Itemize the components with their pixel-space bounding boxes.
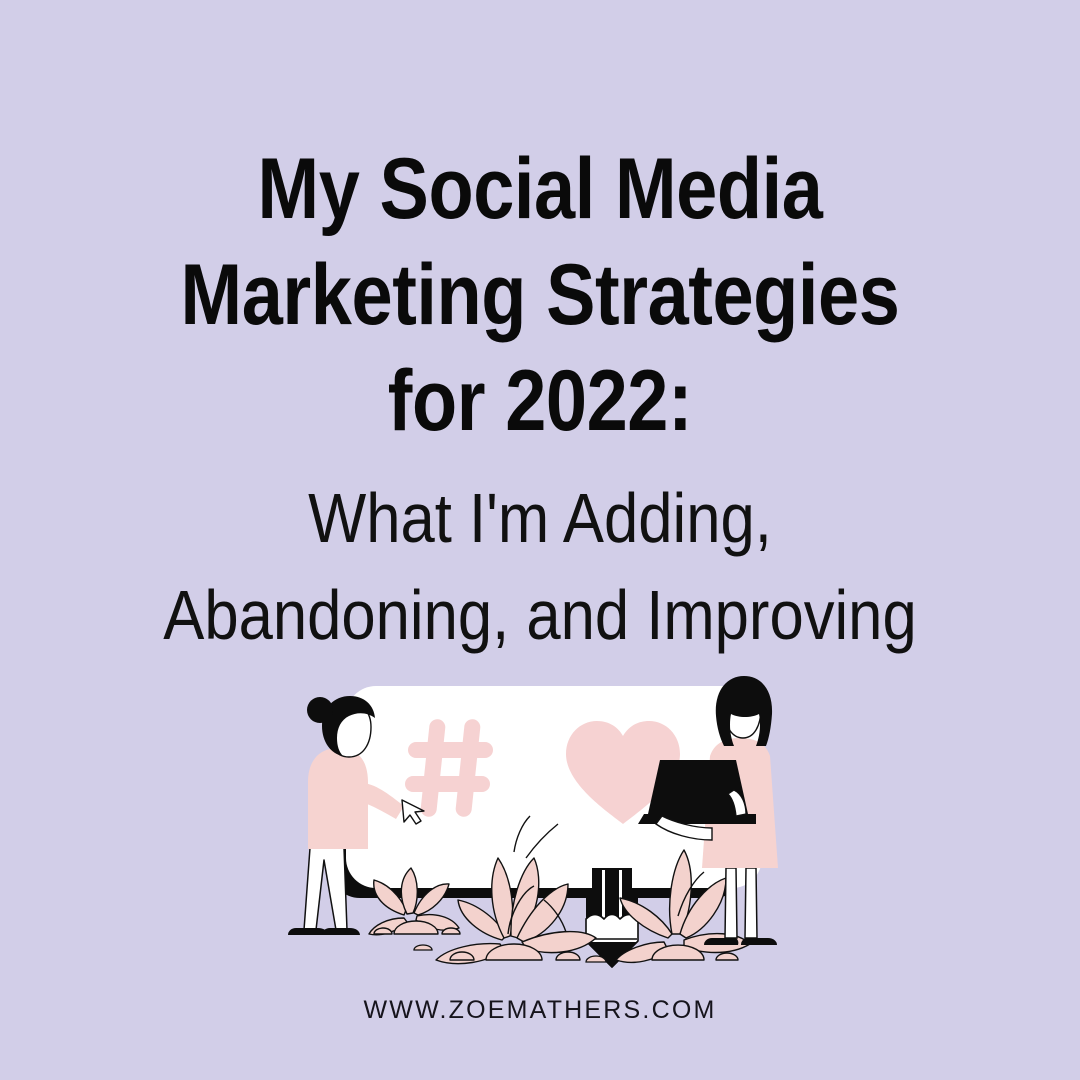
- poster-canvas: My Social Media Marketing Strategies for…: [0, 0, 1080, 1080]
- headline-block: My Social Media Marketing Strategies for…: [0, 136, 1080, 454]
- laptop-screen: [648, 760, 748, 814]
- subheadline-line-2: Abandoning, and Improving: [65, 567, 1015, 664]
- headline-line-3: for 2022:: [76, 348, 1005, 454]
- subheadline-line-1: What I'm Adding,: [65, 470, 1015, 567]
- shoe-left: [704, 938, 738, 945]
- shoe-left: [288, 928, 328, 935]
- shoe-right: [741, 938, 777, 945]
- pebble: [414, 945, 432, 950]
- headline-line-2: Marketing Strategies: [76, 242, 1005, 348]
- social-media-illustration: [264, 672, 816, 984]
- illustration-svg: [264, 672, 816, 984]
- footer-website-url: WWW.ZOEMATHERS.COM: [0, 996, 1080, 1025]
- shoe-right: [322, 928, 360, 935]
- subheadline-block: What I'm Adding, Abandoning, and Improvi…: [0, 470, 1080, 664]
- headline-line-1: My Social Media: [76, 136, 1005, 242]
- hair-bun: [307, 697, 333, 723]
